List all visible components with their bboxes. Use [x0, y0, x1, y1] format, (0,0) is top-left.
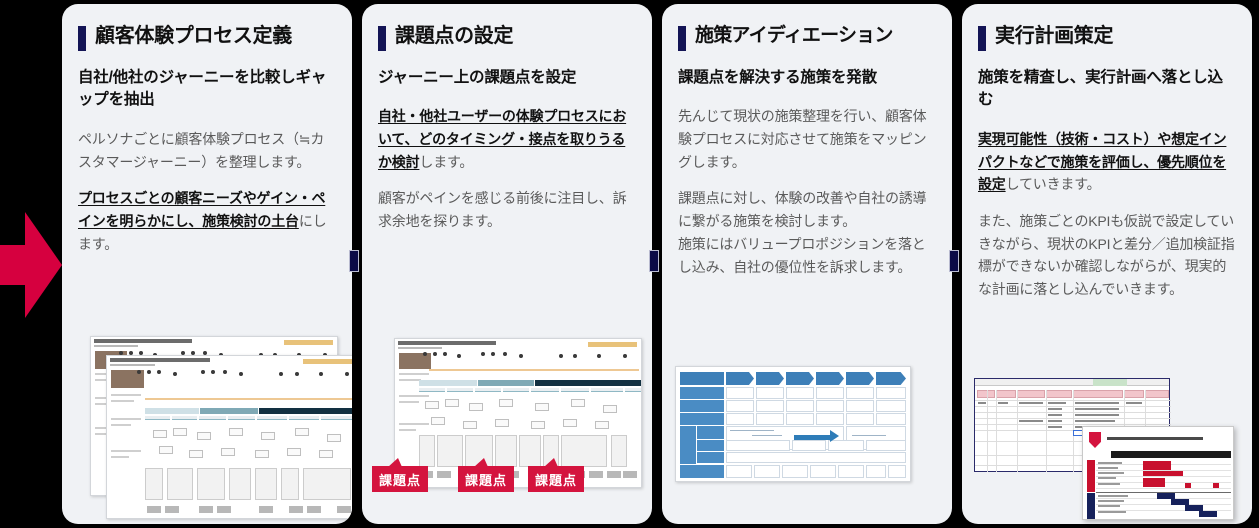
card-2-header: 課題点の設定 — [378, 24, 636, 51]
callout-issue-2-label: 課題点 — [465, 470, 507, 489]
card-2-p2-text: 顧客がペインを感じる前後に注目し、訴求余地を探ります。 — [378, 190, 626, 229]
card-1-p1-text: ペルソナごとに顧客体験プロセス（≒カスタマージャーニー）を整理します。 — [78, 131, 324, 170]
accent-bar-icon — [378, 26, 386, 51]
card-4-p2-text: また、施策ごとのKPIも仮説で設定していきながら、現状のKPIと差分／追加検証指… — [978, 213, 1235, 297]
card-4-thumbnail[interactable] — [962, 372, 1252, 524]
callout-tail-icon — [544, 458, 558, 467]
card-3-subtitle: 課題点を解決する施策を発散 — [678, 67, 936, 89]
connector-3-4 — [949, 250, 959, 272]
card-2-thumbnail[interactable]: 課題点 課題点 課題点 — [362, 324, 652, 524]
card-3-title: 施策アイディエーション — [695, 24, 893, 48]
card-1-paragraph-1: ペルソナごとに顧客体験プロセス（≒カスタマージャーニー）を整理します。 — [78, 128, 336, 173]
step-card-1[interactable]: 顧客体験プロセス定義 自社/他社のジャーニーを比較しギャップを抽出 ペルソナごと… — [62, 4, 352, 524]
card-1-body: ペルソナごとに顧客体験プロセス（≒カスタマージャーニー）を整理します。 プロセス… — [78, 128, 336, 255]
callout-issue-3-label: 課題点 — [535, 470, 577, 489]
card-1-subtitle: 自社/他社のジャーニーを比較しギャップを抽出 — [78, 67, 336, 112]
card-3-body: 先んじて現状の施策整理を行い、顧客体験プロセスに対応させて施策をマッピングします… — [678, 105, 936, 278]
card-1-thumbnail[interactable] — [62, 324, 352, 524]
journey-map-sheet-front — [106, 355, 352, 519]
card-2-body: 自社・他社ユーザーの体験プロセスにおいて、どのタイミング・接点を取りうるか検討し… — [378, 105, 636, 232]
card-2-subtitle: ジャーニー上の課題点を設定 — [378, 67, 636, 89]
card-2-paragraph-2: 顧客がペインを感じる前後に注目し、訴求余地を探ります。 — [378, 187, 636, 232]
card-1-title: 顧客体験プロセス定義 — [95, 24, 292, 49]
implementation-gantt-chart — [1082, 426, 1234, 520]
card-3-header: 施策アイディエーション — [678, 24, 936, 51]
card-2-paragraph-1: 自社・他社ユーザーの体験プロセスにおいて、どのタイミング・接点を取りうるか検討し… — [378, 105, 636, 173]
accent-bar-icon — [678, 26, 686, 51]
card-4-body: 実現可能性（技術・コスト）や想定インパクトなどで施策を評価し、優先順位を設定して… — [978, 128, 1236, 301]
process-diagram-canvas: 顧客体験プロセス定義 自社/他社のジャーニーを比較しギャップを抽出 ペルソナごと… — [0, 0, 1259, 528]
journey-map-sheet — [394, 338, 642, 488]
connector-1-2 — [349, 250, 359, 272]
accent-bar-icon — [978, 26, 986, 51]
card-4-subtitle: 施策を精査し、実行計画へ落とし込む — [978, 67, 1236, 112]
card-4-title: 実行計画策定 — [995, 24, 1113, 49]
callout-tail-icon — [388, 458, 402, 467]
card-3-p1-text: 先んじて現状の施策整理を行い、顧客体験プロセスに対応させて施策をマッピングします… — [678, 108, 926, 169]
card-4-paragraph-1: 実現可能性（技術・コスト）や想定インパクトなどで施策を評価し、優先順位を設定して… — [978, 128, 1236, 196]
card-2-p1-tail: します。 — [419, 154, 473, 170]
measure-mapping-matrix — [675, 366, 911, 482]
step-card-4[interactable]: 実行計画策定 施策を精査し、実行計画へ落とし込む 実現可能性（技術・コスト）や想… — [962, 4, 1252, 524]
card-3-paragraph-1: 先んじて現状の施策整理を行い、顧客体験プロセスに対応させて施策をマッピングします… — [678, 105, 936, 173]
card-4-header: 実行計画策定 — [978, 24, 1236, 51]
card-4-paragraph-2: また、施策ごとのKPIも仮説で設定していきながら、現状のKPIと差分／追加検証指… — [978, 210, 1236, 301]
card-3-paragraph-2: 課題点に対し、体験の改善や自社の誘導に繋がる施策を検討します。 施策にはバリュー… — [678, 187, 936, 278]
arrow-head-icon — [25, 212, 62, 318]
callout-issue-3[interactable]: 課題点 — [528, 466, 584, 492]
callout-issue-1[interactable]: 課題点 — [372, 466, 428, 492]
accent-bar-icon — [78, 26, 86, 51]
connector-2-3 — [649, 250, 659, 272]
card-1-p2-highlight: プロセスごとの顧客ニーズやゲイン・ペインを明らかにし、施策検討の土台 — [78, 190, 325, 229]
card-3-p2-text: 課題点に対し、体験の改善や自社の誘導に繋がる施策を検討します。 施策にはバリュー… — [678, 190, 926, 274]
card-3-thumbnail[interactable] — [662, 354, 952, 524]
callout-issue-1-label: 課題点 — [379, 470, 421, 489]
callout-issue-2[interactable]: 課題点 — [458, 466, 514, 492]
card-2-p1-highlight: 自社・他社ユーザーの体験プロセスにおいて、どのタイミング・接点を取りうるか検討 — [378, 108, 626, 169]
step-card-2[interactable]: 課題点の設定 ジャーニー上の課題点を設定 自社・他社ユーザーの体験プロセスにおい… — [362, 4, 652, 524]
process-flow-arrow — [0, 212, 62, 318]
card-1-header: 顧客体験プロセス定義 — [78, 24, 336, 51]
card-4-p1-tail: していきます。 — [1006, 176, 1101, 192]
callout-tail-icon — [474, 458, 488, 467]
step-card-3[interactable]: 施策アイディエーション 課題点を解決する施策を発散 先んじて現状の施策整理を行い… — [662, 4, 952, 524]
card-1-paragraph-2: プロセスごとの顧客ニーズやゲイン・ペインを明らかにし、施策検討の土台にします。 — [78, 187, 336, 255]
card-2-title: 課題点の設定 — [395, 24, 513, 49]
